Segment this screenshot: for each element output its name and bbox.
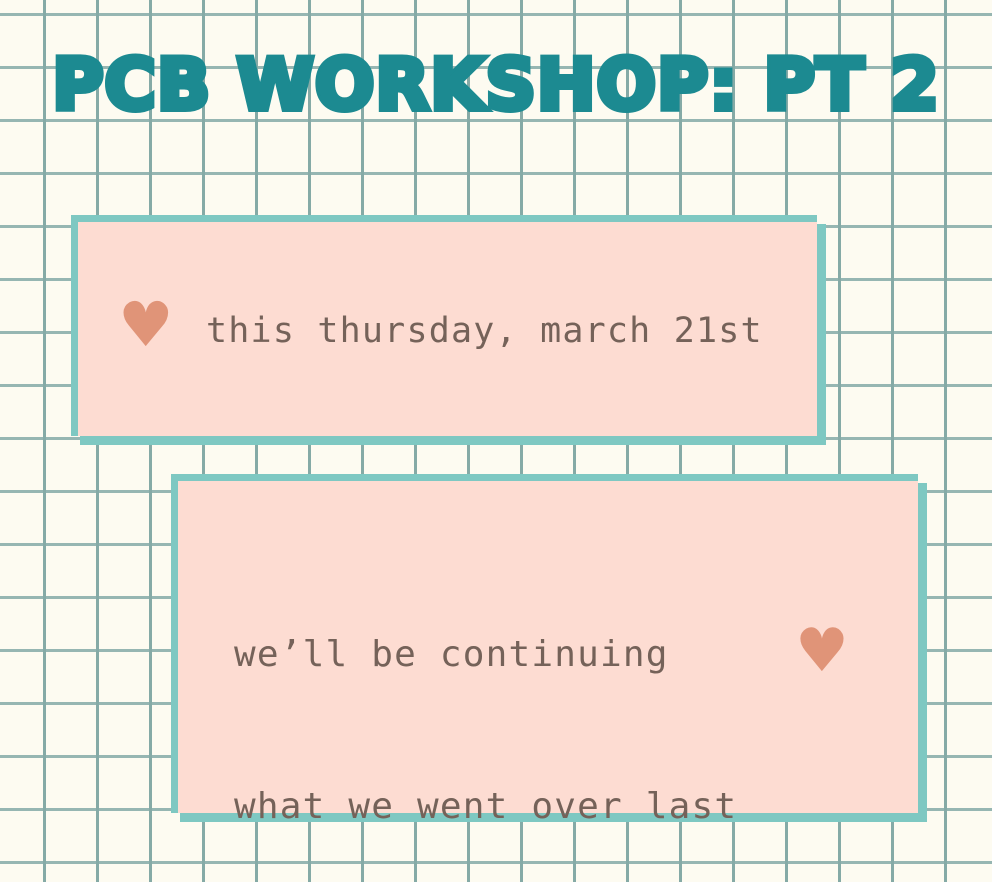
details-card-content: ♥ we’ll be continuing what we went over … — [178, 481, 918, 813]
details-line: we’ll be continuing — [234, 630, 737, 681]
poster-canvas: PCB WORKSHOP: PT 2 ♥ this thursday, marc… — [0, 0, 992, 882]
heart-icon: ♥ — [118, 294, 174, 356]
date-card-content: ♥ this thursday, march 21st — [78, 222, 817, 436]
details-card: ♥ we’ll be continuing what we went over … — [171, 474, 918, 813]
details-line: what we went over last — [234, 782, 737, 833]
page-title: PCB WORKSHOP: PT 2 — [0, 46, 992, 124]
date-card: ♥ this thursday, march 21st — [71, 215, 817, 436]
heart-icon: ♥ — [795, 621, 849, 681]
date-text: this thursday, march 21st — [206, 306, 763, 356]
details-text: we’ll be continuing what we went over la… — [234, 529, 737, 882]
